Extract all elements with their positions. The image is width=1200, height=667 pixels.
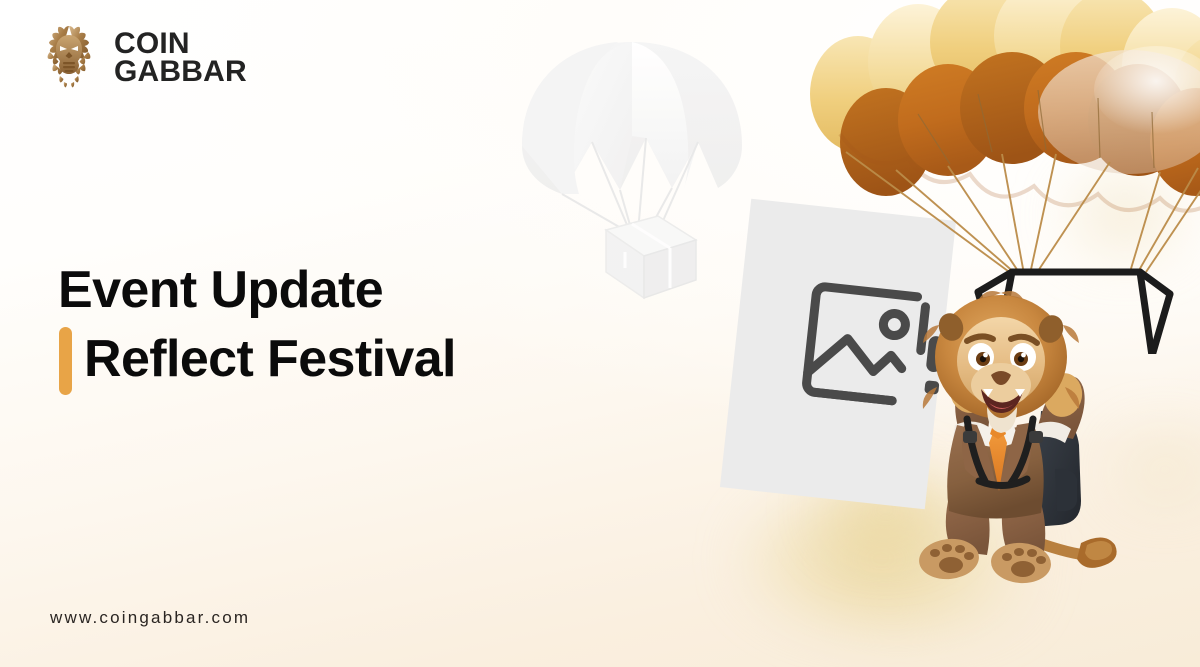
- headline-accent-row: Reflect Festival: [58, 331, 678, 387]
- lion-head-icon: [38, 22, 100, 94]
- cloud-decoration: [742, 492, 1072, 628]
- brand-wordmark: COIN GABBAR: [114, 30, 247, 86]
- cloud-decoration: [1035, 170, 1200, 260]
- brand-name-line2: GABBAR: [114, 58, 247, 86]
- headline-block: Event Update Reflect Festival: [58, 262, 678, 387]
- brand-logo[interactable]: COIN GABBAR: [38, 22, 247, 94]
- event-banner: COIN GABBAR: [0, 0, 1200, 667]
- cloud-decoration: [1085, 430, 1200, 510]
- page-title-line1: Event Update: [58, 262, 678, 318]
- broken-image-icon: [793, 268, 965, 424]
- accent-bar: [59, 327, 72, 395]
- website-url[interactable]: www.coingabbar.com: [50, 608, 250, 628]
- brand-name-line1: COIN: [114, 30, 247, 58]
- page-title-line2: Reflect Festival: [58, 331, 456, 387]
